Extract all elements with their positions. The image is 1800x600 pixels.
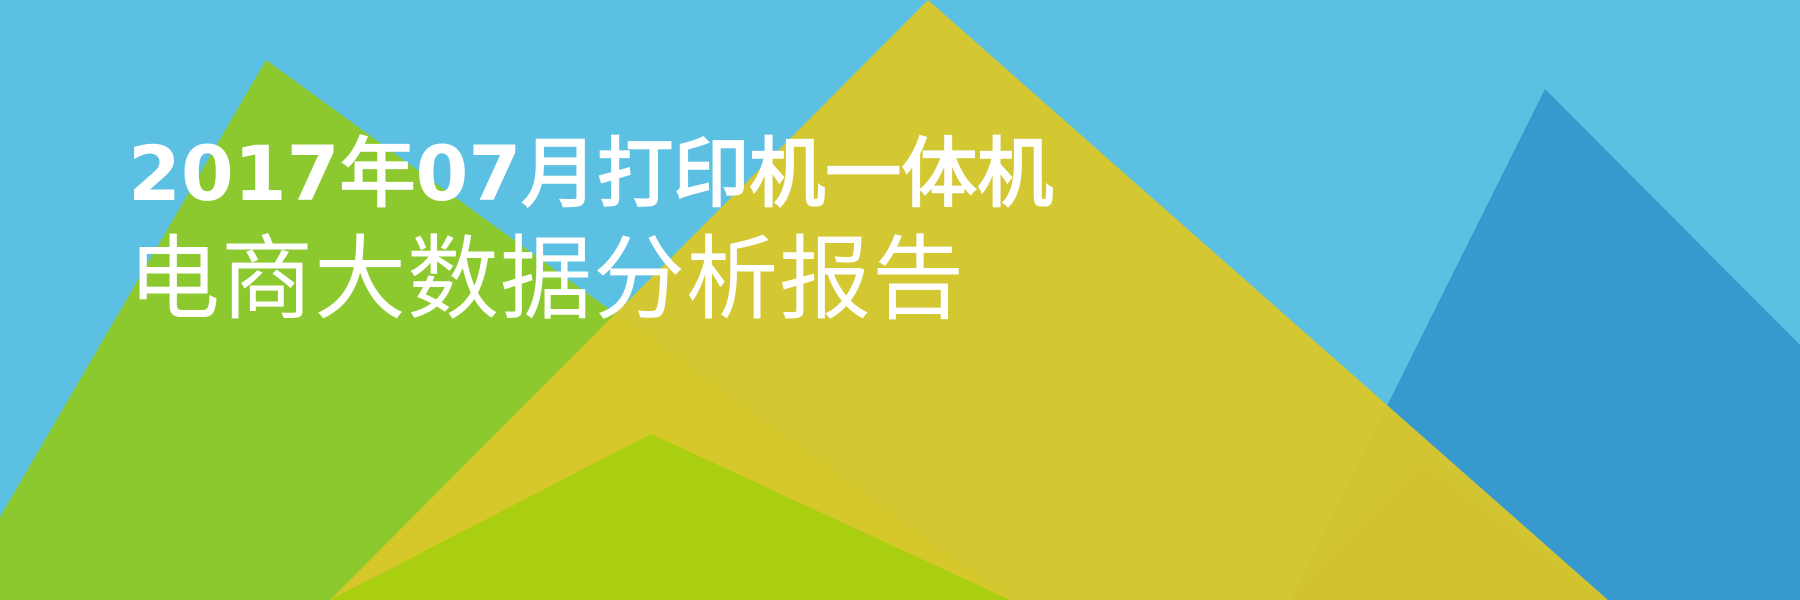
banner-title-line-1: 2017年07月打印机一体机 bbox=[128, 136, 1228, 212]
banner-title-line-2: 电商大数据分析报告 bbox=[128, 234, 1228, 326]
report-cover-banner: 2017年07月打印机一体机 电商大数据分析报告 bbox=[0, 0, 1800, 600]
banner-title-block: 2017年07月打印机一体机 电商大数据分析报告 bbox=[128, 136, 1228, 326]
